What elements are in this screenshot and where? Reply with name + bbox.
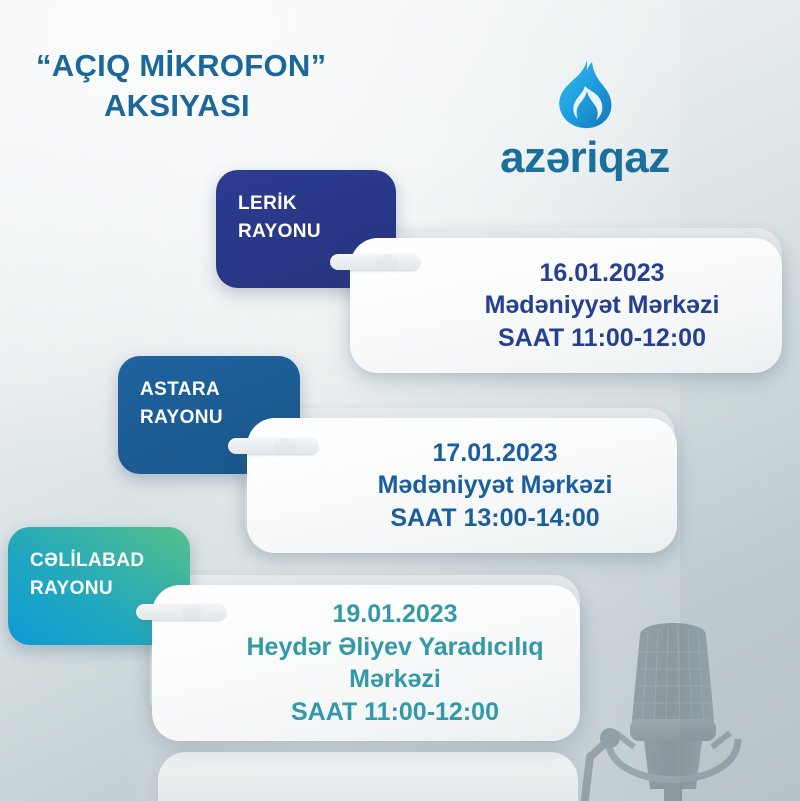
event-time-celilabad: SAAT 11:00-12:00: [291, 696, 499, 729]
connector-segment: [274, 438, 296, 454]
connector-segment: [182, 604, 204, 620]
event-time-astara: SAAT 13:00-14:00: [390, 502, 599, 535]
tag-card-connector-astara: [228, 438, 318, 454]
brand-wordmark: azəriqaz: [470, 136, 700, 180]
brand-logo: azəriqaz: [470, 58, 700, 180]
district-tag-astara-line1: ASTARA: [140, 376, 278, 404]
page-title: “AÇIQ MİKROFON” AKSIYASI: [36, 46, 456, 127]
district-tag-lerik-line1: LERİK: [238, 190, 374, 218]
event-venue-celilabad: Heydər Əliyev Yaradıcılıq: [246, 631, 543, 664]
tag-card-connector-celilabad: [136, 604, 226, 620]
event-date-celilabad: 19.01.2023: [332, 598, 457, 631]
event-date-astara: 17.01.2023: [432, 437, 557, 470]
district-tag-celilabad-line1: CƏLİLABAD: [30, 547, 168, 575]
poster-canvas: “AÇIQ MİKROFON” AKSIYASI azəriqaz LERİK …: [0, 0, 800, 801]
district-tag-lerik-line2: RAYONU: [238, 218, 374, 246]
headline-line-2: AKSIYASI: [36, 86, 456, 126]
headline-line-1: “AÇIQ MİKROFON”: [36, 48, 326, 83]
microphone-icon: [568, 607, 778, 801]
event-date-lerik: 16.01.2023: [539, 257, 664, 290]
event-card-partial-next: [158, 752, 578, 801]
district-tag-celilabad-line2: RAYONU: [30, 575, 168, 603]
event-venue-celilabad-line2: Mərkəzi: [349, 663, 441, 696]
connector-segment: [376, 254, 398, 270]
event-venue-lerik: Mədəniyyət Mərkəzi: [485, 289, 720, 322]
event-time-lerik: SAAT 11:00-12:00: [498, 322, 706, 355]
event-venue-astara: Mədəniyyət Mərkəzi: [378, 469, 613, 502]
flame-icon: [554, 58, 616, 130]
tag-card-connector-lerik: [330, 254, 420, 270]
